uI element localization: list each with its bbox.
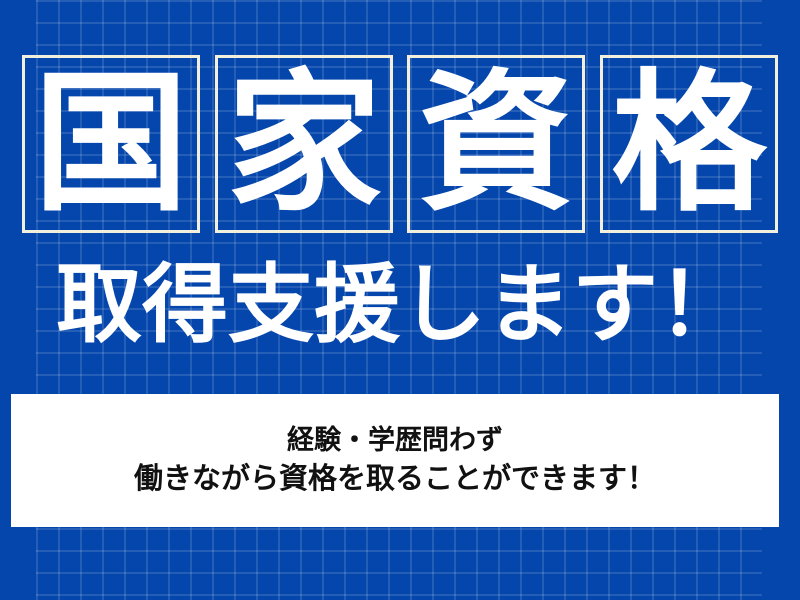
kanji-char-3: 資 (419, 68, 574, 220)
kanji-box-4: 格 (600, 55, 778, 233)
description-panel: 経験・学歴問わず 働きながら資格を取ることができます！ (11, 394, 779, 527)
kanji-char-2: 家 (226, 68, 381, 220)
kanji-char-4: 格 (611, 68, 766, 220)
subheadline-text: 取得支援します！ (0, 262, 800, 348)
kanji-char-1: 国 (33, 68, 188, 220)
description-line-1: 経験・学歴問わず (287, 423, 503, 459)
poster-root: 国 家 資 格 取得支援します！ 経験・学歴問わず 働きながら資格を取ることがで… (0, 0, 800, 600)
kanji-box-3: 資 (407, 55, 585, 233)
headline-kanji-row: 国 家 資 格 (22, 55, 778, 233)
kanji-box-1: 国 (22, 55, 200, 233)
description-line-2: 働きながら資格を取ることができます！ (134, 459, 656, 498)
kanji-box-2: 家 (215, 55, 393, 233)
